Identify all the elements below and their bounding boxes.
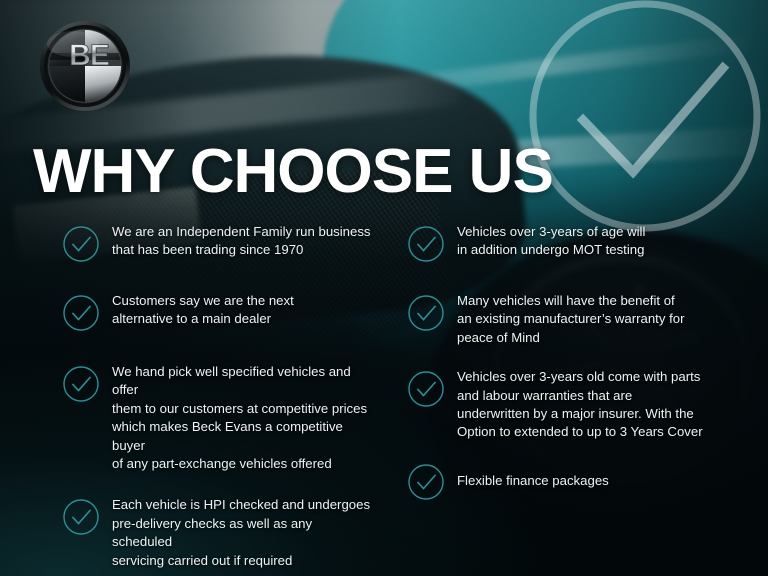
check-circle-icon — [407, 225, 445, 263]
feature-line: We hand pick well specified vehicles and… — [112, 364, 351, 397]
feature-item: We are an Independent Family run busines… — [62, 222, 374, 263]
feature-line: underwritten by a major insurer. With th… — [457, 406, 694, 421]
feature-item: Customers say we are the next alternativ… — [62, 291, 374, 332]
feature-line: an existing manufacturer’s warranty for — [457, 311, 684, 326]
feature-text: Many vehicles will have the benefit of a… — [457, 291, 684, 347]
feature-line: Customers say we are the next — [112, 293, 294, 308]
feature-line: Vehicles over 3-years old come with part… — [457, 369, 700, 384]
feature-text: Each vehicle is HPI checked and undergoe… — [112, 495, 374, 570]
feature-line: Each vehicle is HPI checked and undergoe… — [112, 497, 370, 512]
check-circle-icon — [62, 225, 100, 263]
beck-evans-roundel-logo[interactable]: BE — [39, 20, 131, 112]
check-circle-icon — [407, 370, 445, 408]
feature-item: Many vehicles will have the benefit of a… — [407, 291, 748, 347]
feature-line: Vehicles over 3-years of age will — [457, 224, 645, 239]
feature-line: peace of Mind — [457, 330, 540, 345]
why-choose-us-banner: BE WHY CHOOSE US We are an Independent F… — [0, 0, 768, 576]
feature-item: Vehicles over 3-years old come with part… — [407, 367, 748, 442]
check-circle-icon — [62, 365, 100, 403]
check-circle-icon — [407, 463, 445, 501]
feature-line: We are an Independent Family run busines… — [112, 224, 371, 239]
feature-line: and labour warranties that are — [457, 388, 632, 403]
feature-text: Vehicles over 3-years old come with part… — [457, 367, 703, 442]
feature-item: Vehicles over 3-years of age will in add… — [407, 222, 748, 263]
page-title: WHY CHOOSE US — [33, 140, 553, 204]
features-container: We are an Independent Family run busines… — [0, 222, 768, 576]
feature-item: Each vehicle is HPI checked and undergoe… — [62, 495, 374, 570]
feature-line: them to our customers at competitive pri… — [112, 401, 367, 416]
feature-text: Vehicles over 3-years of age will in add… — [457, 222, 645, 260]
feature-line: servicing carried out if required — [112, 553, 292, 568]
feature-line: Option to extended to up to 3 Years Cove… — [457, 424, 703, 439]
features-column-right: Vehicles over 3-years of age will in add… — [384, 222, 768, 576]
feature-text: We are an Independent Family run busines… — [112, 222, 371, 260]
feature-text: Flexible finance packages — [457, 460, 609, 490]
feature-line: pre-delivery checks as well as any sched… — [112, 516, 312, 549]
check-circle-icon — [62, 498, 100, 536]
feature-text: We hand pick well specified vehicles and… — [112, 362, 374, 473]
feature-line: Flexible finance packages — [457, 473, 609, 488]
feature-line: alternative to a main dealer — [112, 311, 271, 326]
check-circle-icon — [62, 294, 100, 332]
feature-item: Flexible finance packages — [407, 460, 748, 501]
feature-line: which makes Beck Evans a competitive buy… — [112, 419, 343, 452]
check-circle-icon — [407, 294, 445, 332]
feature-line: that has been trading since 1970 — [112, 242, 303, 257]
feature-item: We hand pick well specified vehicles and… — [62, 362, 374, 473]
feature-text: Customers say we are the next alternativ… — [112, 291, 294, 329]
feature-line: Many vehicles will have the benefit of — [457, 293, 675, 308]
feature-line: in addition undergo MOT testing — [457, 242, 644, 257]
feature-line: of any part-exchange vehicles offered — [112, 456, 332, 471]
features-column-left: We are an Independent Family run busines… — [0, 222, 384, 576]
